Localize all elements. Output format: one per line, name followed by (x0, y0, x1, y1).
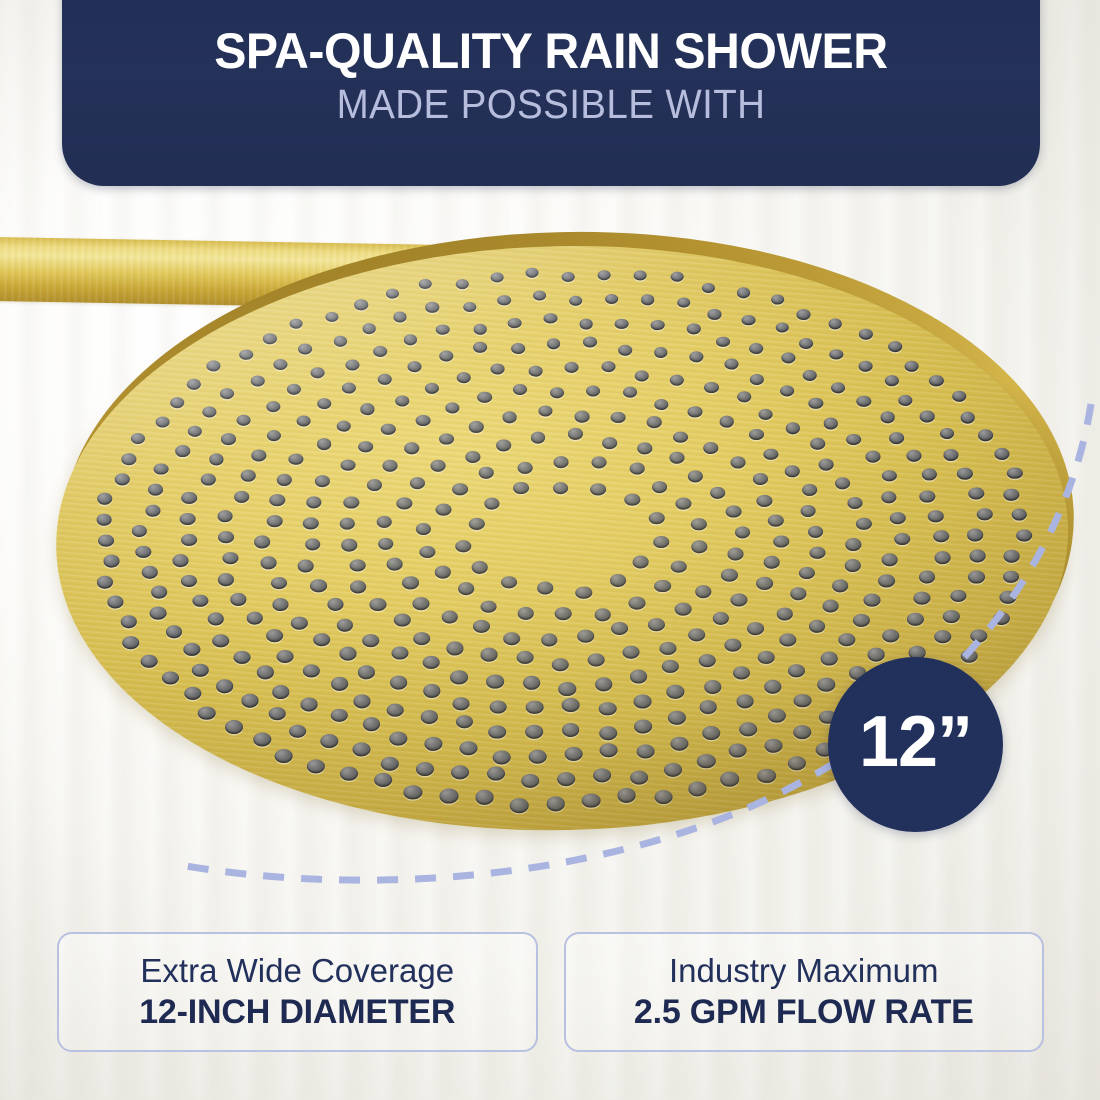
product-infographic: 12” SPA-QUALITY RAIN SHOWER MADE POSSIBL… (0, 0, 1100, 1100)
feature-row: Extra Wide Coverage 12-INCH DIAMETER Ind… (57, 932, 1044, 1052)
feature-flow-top-label: Industry Maximum (669, 953, 939, 990)
feature-box-coverage: Extra Wide Coverage 12-INCH DIAMETER (57, 932, 538, 1052)
feature-flow-bottom-label: 2.5 GPM FLOW RATE (634, 993, 974, 1031)
size-badge: 12” (828, 657, 1003, 832)
header-banner: SPA-QUALITY RAIN SHOWER MADE POSSIBLE WI… (62, 0, 1040, 186)
banner-subtitle: MADE POSSIBLE WITH (337, 84, 766, 126)
feature-coverage-bottom-label: 12-INCH DIAMETER (139, 993, 455, 1031)
feature-coverage-top-label: Extra Wide Coverage (140, 953, 454, 990)
size-badge-label: 12” (859, 706, 972, 778)
feature-box-flow-rate: Industry Maximum 2.5 GPM FLOW RATE (564, 932, 1045, 1052)
banner-title: SPA-QUALITY RAIN SHOWER (214, 26, 887, 77)
